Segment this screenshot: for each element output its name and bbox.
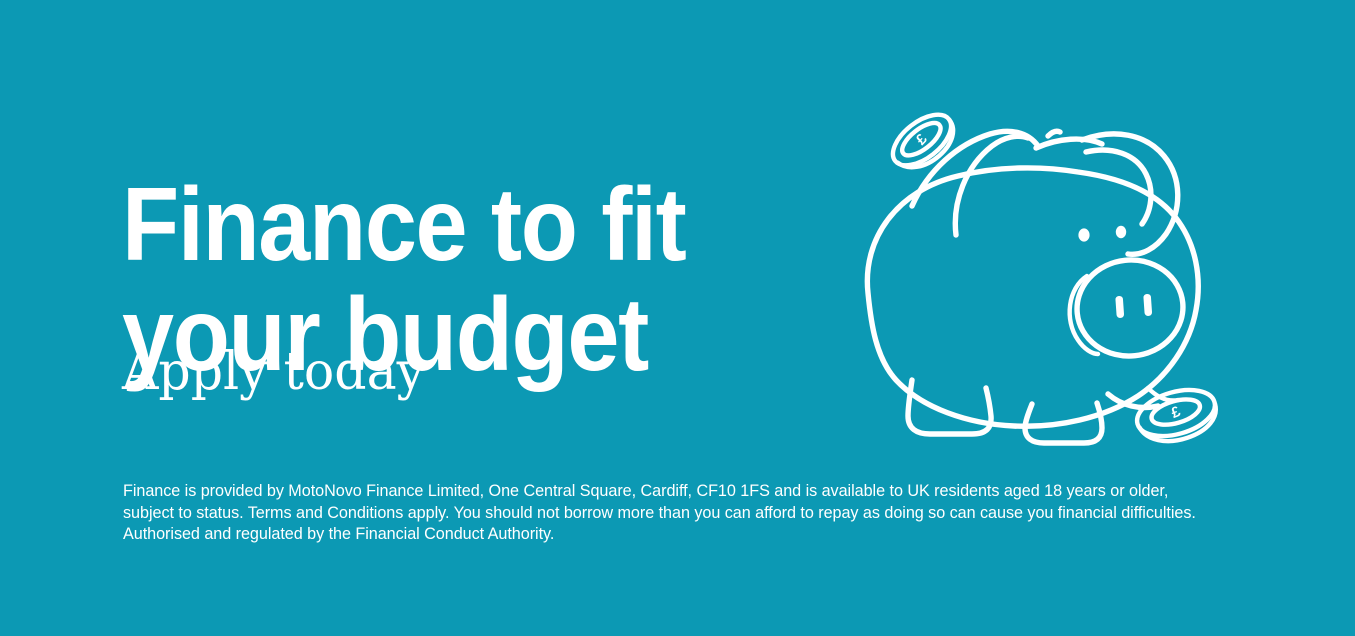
piggy-bank-illustration: £ £ <box>846 88 1246 448</box>
pig-snout-icon <box>1070 255 1188 362</box>
legal-disclaimer-text: Finance is provided by MotoNovo Finance … <box>123 481 1209 546</box>
subheading-apply-today: Apply today <box>122 343 425 401</box>
pig-eyes-icon <box>1078 226 1126 242</box>
coin-currency-symbol: £ <box>1169 403 1184 422</box>
finance-promo-banner: Finance to fit your budget Apply today F… <box>0 0 1355 636</box>
pig-front-ear-icon <box>1082 134 1178 254</box>
coin-top-left-icon: £ <box>884 105 963 179</box>
pig-coin-slot-icon <box>1036 131 1102 148</box>
